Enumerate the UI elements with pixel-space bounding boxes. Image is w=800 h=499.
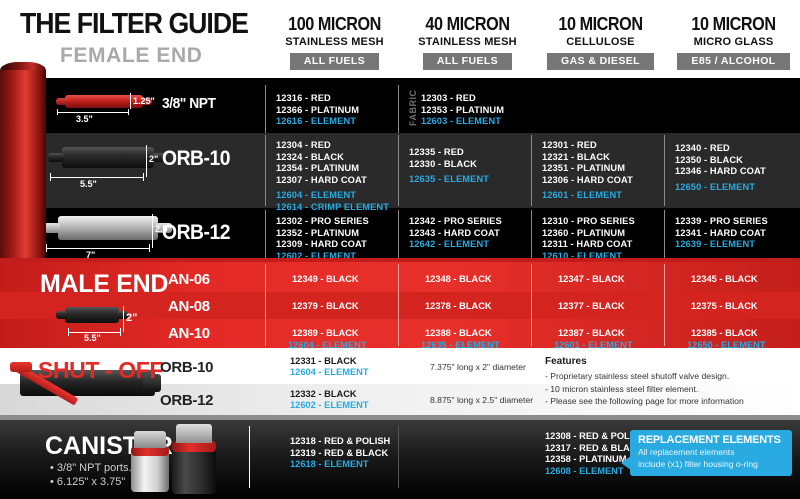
cell-an10-40micron: 12388 - BLACK [425,328,492,338]
cell-shutoff-orb10-pn: 12331 - BLACK [290,356,357,366]
cell-an06-40micron: 12348 - BLACK [425,274,492,284]
part-number: 12342 - PRO SERIES [409,216,502,228]
section-title-shutoff: SHUT - OFF [38,357,163,384]
cell-npt-40micron: 12303 - RED 12353 - PLATINUM 12603 - ELE… [421,93,504,128]
dimension-tick [120,328,121,336]
column-media-label: STAINLESS MESH [268,36,401,48]
column-micron-label: 100 MICRON [275,14,395,35]
dimension-tick [57,109,58,115]
part-number-element: 12618 - ELEMENT [290,459,390,471]
cell-an08-100micron: 12379 - BLACK [292,301,359,311]
part-number: 12316 - RED [276,93,359,105]
row-label-an08: AN-08 [168,298,210,315]
dimension-line [146,145,147,177]
dimension-line [130,93,131,109]
part-number: 12321 - BLACK [542,152,633,164]
shutoff-orb12-dimensions: 8.875" long x 2.5" diameter [430,395,533,405]
canister-spec-size: • 6.125" x 3.75" [50,476,125,488]
cell-an10-10micron-cellulose: 12387 - BLACK [558,328,625,338]
male-end-section: MALE END 5.5" 2" AN-06 AN-08 AN-10 12349… [0,262,800,348]
column-media-label: MICRO GLASS [667,36,800,48]
cell-orb10-40micron: 12335 - RED 12330 - BLACK 12635 - ELEMEN… [409,147,489,186]
cell-an06-10micron-microglass: 12345 - BLACK [691,274,758,284]
table-row-npt [0,85,800,133]
column-divider [265,135,266,206]
female-end-table: 3.5" 1.25" 3/8" NPT 12316 - RED 12366 - … [0,85,800,262]
product-image-canister-black-head [176,424,212,443]
column-divider [531,210,532,260]
cell-an08-10micron-microglass: 12375 - BLACK [691,301,758,311]
decorative-canister-body [0,70,46,270]
product-image-npt-filter [65,95,143,108]
part-number: 12319 - RED & BLACK [290,448,390,460]
dimension-length-label: 5.5" [84,333,101,343]
row-label-an10: AN-10 [168,325,210,342]
part-number: 12335 - RED [409,147,489,159]
product-image-orb10-filter [62,147,154,168]
section-title-male-end: MALE END [40,270,168,299]
column-media-label: STAINLESS MESH [401,36,534,48]
dimension-tick [46,244,47,252]
part-number: 12339 - PRO SERIES [675,216,768,228]
cell-an08-40micron: 12378 - BLACK [425,301,492,311]
part-number-element: 12603 - ELEMENT [421,116,504,128]
cell-orb10-100micron: 12304 - RED 12324 - BLACK 12354 - PLATIN… [276,140,389,214]
part-number: 12352 - PLATINUM [276,228,369,240]
dimension-length-label: 5.5" [80,179,97,189]
dimension-line [152,214,153,248]
replacement-elements-line2: include (x1) filter housing o-ring [638,459,785,470]
shutoff-section: SHUT - OFF ORB-10 ORB-12 12331 - BLACK 1… [0,348,800,420]
part-number: 12318 - RED & POLISH [290,436,390,448]
part-number: 12301 - RED [542,140,633,152]
part-number: 12353 - PLATINUM [421,105,504,117]
part-number: 12307 - HARD COAT [276,175,389,187]
cell-shutoff-orb12-element: 12602 - ELEMENT [290,400,369,410]
cell-an06-100micron: 12349 - BLACK [292,274,359,284]
product-image-shutoff-lever-base [10,362,32,372]
column-divider [249,426,250,488]
row-label-shutoff-orb10: ORB-10 [160,359,213,376]
section-title-female-end: FEMALE END [60,44,203,68]
product-image-canister-polish-head [134,431,166,448]
column-divider [265,85,266,133]
column-header-10-micron-cellulose: 10 MICRON CELLULOSE GAS & DIESEL [534,14,667,84]
header-divider-bar [0,78,800,85]
part-number-element: 12650 - ELEMENT [675,182,766,194]
part-number-element: 12635 - ELEMENT [409,174,489,186]
column-divider [398,85,399,133]
column-divider [398,426,399,488]
callout-tail [621,456,631,470]
row-label-orb10: ORB-10 [162,147,230,171]
feature-item: - Please see the following page for more… [545,395,793,408]
column-fuel-badge: ALL FUELS [423,53,512,70]
column-header-100-micron: 100 MICRON STAINLESS MESH ALL FUELS [268,14,401,84]
cell-an10-10micron-microglass: 12385 - BLACK [691,328,758,338]
part-number-element: 12642 - ELEMENT [409,239,502,251]
cell-an06-10micron-cellulose: 12347 - BLACK [558,274,625,284]
part-number: 12330 - BLACK [409,159,489,171]
part-number-element: 12601 - ELEMENT [542,190,633,202]
column-micron-label: 10 MICRON [674,14,794,35]
column-divider [664,264,665,346]
product-image-orb12-endcap-left [44,223,60,233]
dimension-line [123,306,124,332]
part-number-element: 12616 - ELEMENT [276,116,359,128]
dimension-diameter-label: 2" [126,312,137,324]
part-number: 12343 - HARD COAT [409,228,502,240]
canister-spec-ports: • 3/8" NPT ports. [50,462,132,474]
feature-item: - Proprietary stainless steel shutoff va… [545,370,793,383]
dimension-line [57,112,129,113]
part-number: 12360 - PLATINUM [542,228,635,240]
shutoff-orb10-dimensions: 7.375" long x 2" diameter [430,362,526,372]
cell-canister-100micron: 12318 - RED & POLISH 12319 - RED & BLACK… [290,436,390,471]
dimension-line [50,177,144,178]
replacement-elements-line1: All replacement elements [638,447,785,458]
part-number-element: 12604 - ELEMENT [276,190,389,202]
cell-orb12-40micron: 12342 - PRO SERIES 12343 - HARD COAT 126… [409,216,502,251]
part-number: 12340 - RED [675,143,766,155]
column-micron-label: 40 MICRON [408,14,528,35]
dimension-diameter-label: 1.25" [133,96,155,106]
part-number: 12354 - PLATINUM [276,163,389,175]
column-divider [664,210,665,260]
column-divider [265,210,266,260]
column-divider [398,135,399,206]
part-number: 12350 - BLACK [675,155,766,167]
part-number: 12309 - HARD COAT [276,239,369,251]
product-image-npt-endcap-left [56,98,68,105]
column-divider [664,135,665,206]
part-number-element: 12639 - ELEMENT [675,239,768,251]
part-number-element: 12614 - CRIMP ELEMENT [276,202,389,214]
replacement-elements-title: REPLACEMENT ELEMENTS [638,434,785,446]
cell-orb12-10micron-cellulose: 12310 - PRO SERIES 12360 - PLATINUM 1231… [542,216,635,262]
part-number: 12303 - RED [421,93,504,105]
dimension-tick [149,244,150,252]
part-number: 12302 - PRO SERIES [276,216,369,228]
part-number: 12341 - HARD COAT [675,228,768,240]
part-number: 12324 - BLACK [276,152,389,164]
column-fuel-badge: GAS & DIESEL [547,53,654,70]
part-number: 12310 - PRO SERIES [542,216,635,228]
product-image-orb12-filter [58,216,158,240]
dimension-diameter-label: 2" [149,154,158,164]
cell-orb12-10micron-microglass: 12339 - PRO SERIES 12341 - HARD COAT 126… [675,216,768,251]
page-title: THE FILTER GUIDE [20,8,248,41]
cell-shutoff-orb12-pn: 12332 - BLACK [290,389,357,399]
product-image-canister-polish [131,450,169,492]
product-image-orb10-endcap-left [48,153,64,162]
feature-item: - 10 micron stainless steel filter eleme… [545,383,793,396]
filter-guide-page: THE FILTER GUIDE FEMALE END 100 MICRON S… [0,0,800,499]
features-title: Features [545,356,793,367]
cell-npt-100micron: 12316 - RED 12366 - PLATINUM 12616 - ELE… [276,93,359,128]
dimension-tick [143,173,144,181]
column-header-40-micron: 40 MICRON STAINLESS MESH ALL FUELS [401,14,534,84]
cell-orb10-10micron-microglass: 12340 - RED 12350 - BLACK 12346 - HARD C… [675,143,766,193]
row-label-shutoff-orb12: ORB-12 [160,392,213,409]
fabric-tag-label: FABRIC [408,90,418,127]
features-box: Features - Proprietary stainless steel s… [545,356,793,408]
part-number: 12311 - HARD COAT [542,239,635,251]
part-number: 12346 - HARD COAT [675,166,766,178]
row-label-orb12: ORB-12 [162,221,230,245]
dimension-length-label: 3.5" [76,114,93,124]
column-divider [531,264,532,346]
column-divider [531,135,532,206]
column-header-10-micron-micro-glass: 10 MICRON MICRO GLASS E85 / ALCOHOL [667,14,800,84]
row-label-npt: 3/8" NPT [162,95,215,112]
cell-orb12-100micron: 12302 - PRO SERIES 12352 - PLATINUM 1230… [276,216,369,262]
part-number: 12304 - RED [276,140,389,152]
column-divider [398,264,399,346]
row-label-an06: AN-06 [168,271,210,288]
column-fuel-badge: E85 / ALCOHOL [677,53,789,70]
part-number: 12366 - PLATINUM [276,105,359,117]
column-fuel-badge: ALL FUELS [290,53,379,70]
part-number: 12306 - HARD COAT [542,175,633,187]
dimension-tick [50,173,51,181]
cell-an08-10micron-cellulose: 12377 - BLACK [558,301,625,311]
cell-orb10-10micron-cellulose: 12301 - RED 12321 - BLACK 12351 - PLATIN… [542,140,633,202]
product-image-male-filter [65,307,119,323]
column-divider [265,264,266,346]
product-image-male-endcap-left [56,311,67,319]
product-image-canister-black [172,446,216,494]
dimension-tick [68,328,69,336]
cell-an10-100micron: 12389 - BLACK [292,328,359,338]
column-divider [398,210,399,260]
replacement-elements-callout: REPLACEMENT ELEMENTS All replacement ele… [630,430,792,476]
dimension-tick [128,109,129,115]
part-number: 12351 - PLATINUM [542,163,633,175]
column-micron-label: 10 MICRON [541,14,661,35]
dimension-line [46,248,150,249]
cell-shutoff-orb10-element: 12604 - ELEMENT [290,367,369,377]
column-media-label: CELLULOSE [534,36,667,48]
